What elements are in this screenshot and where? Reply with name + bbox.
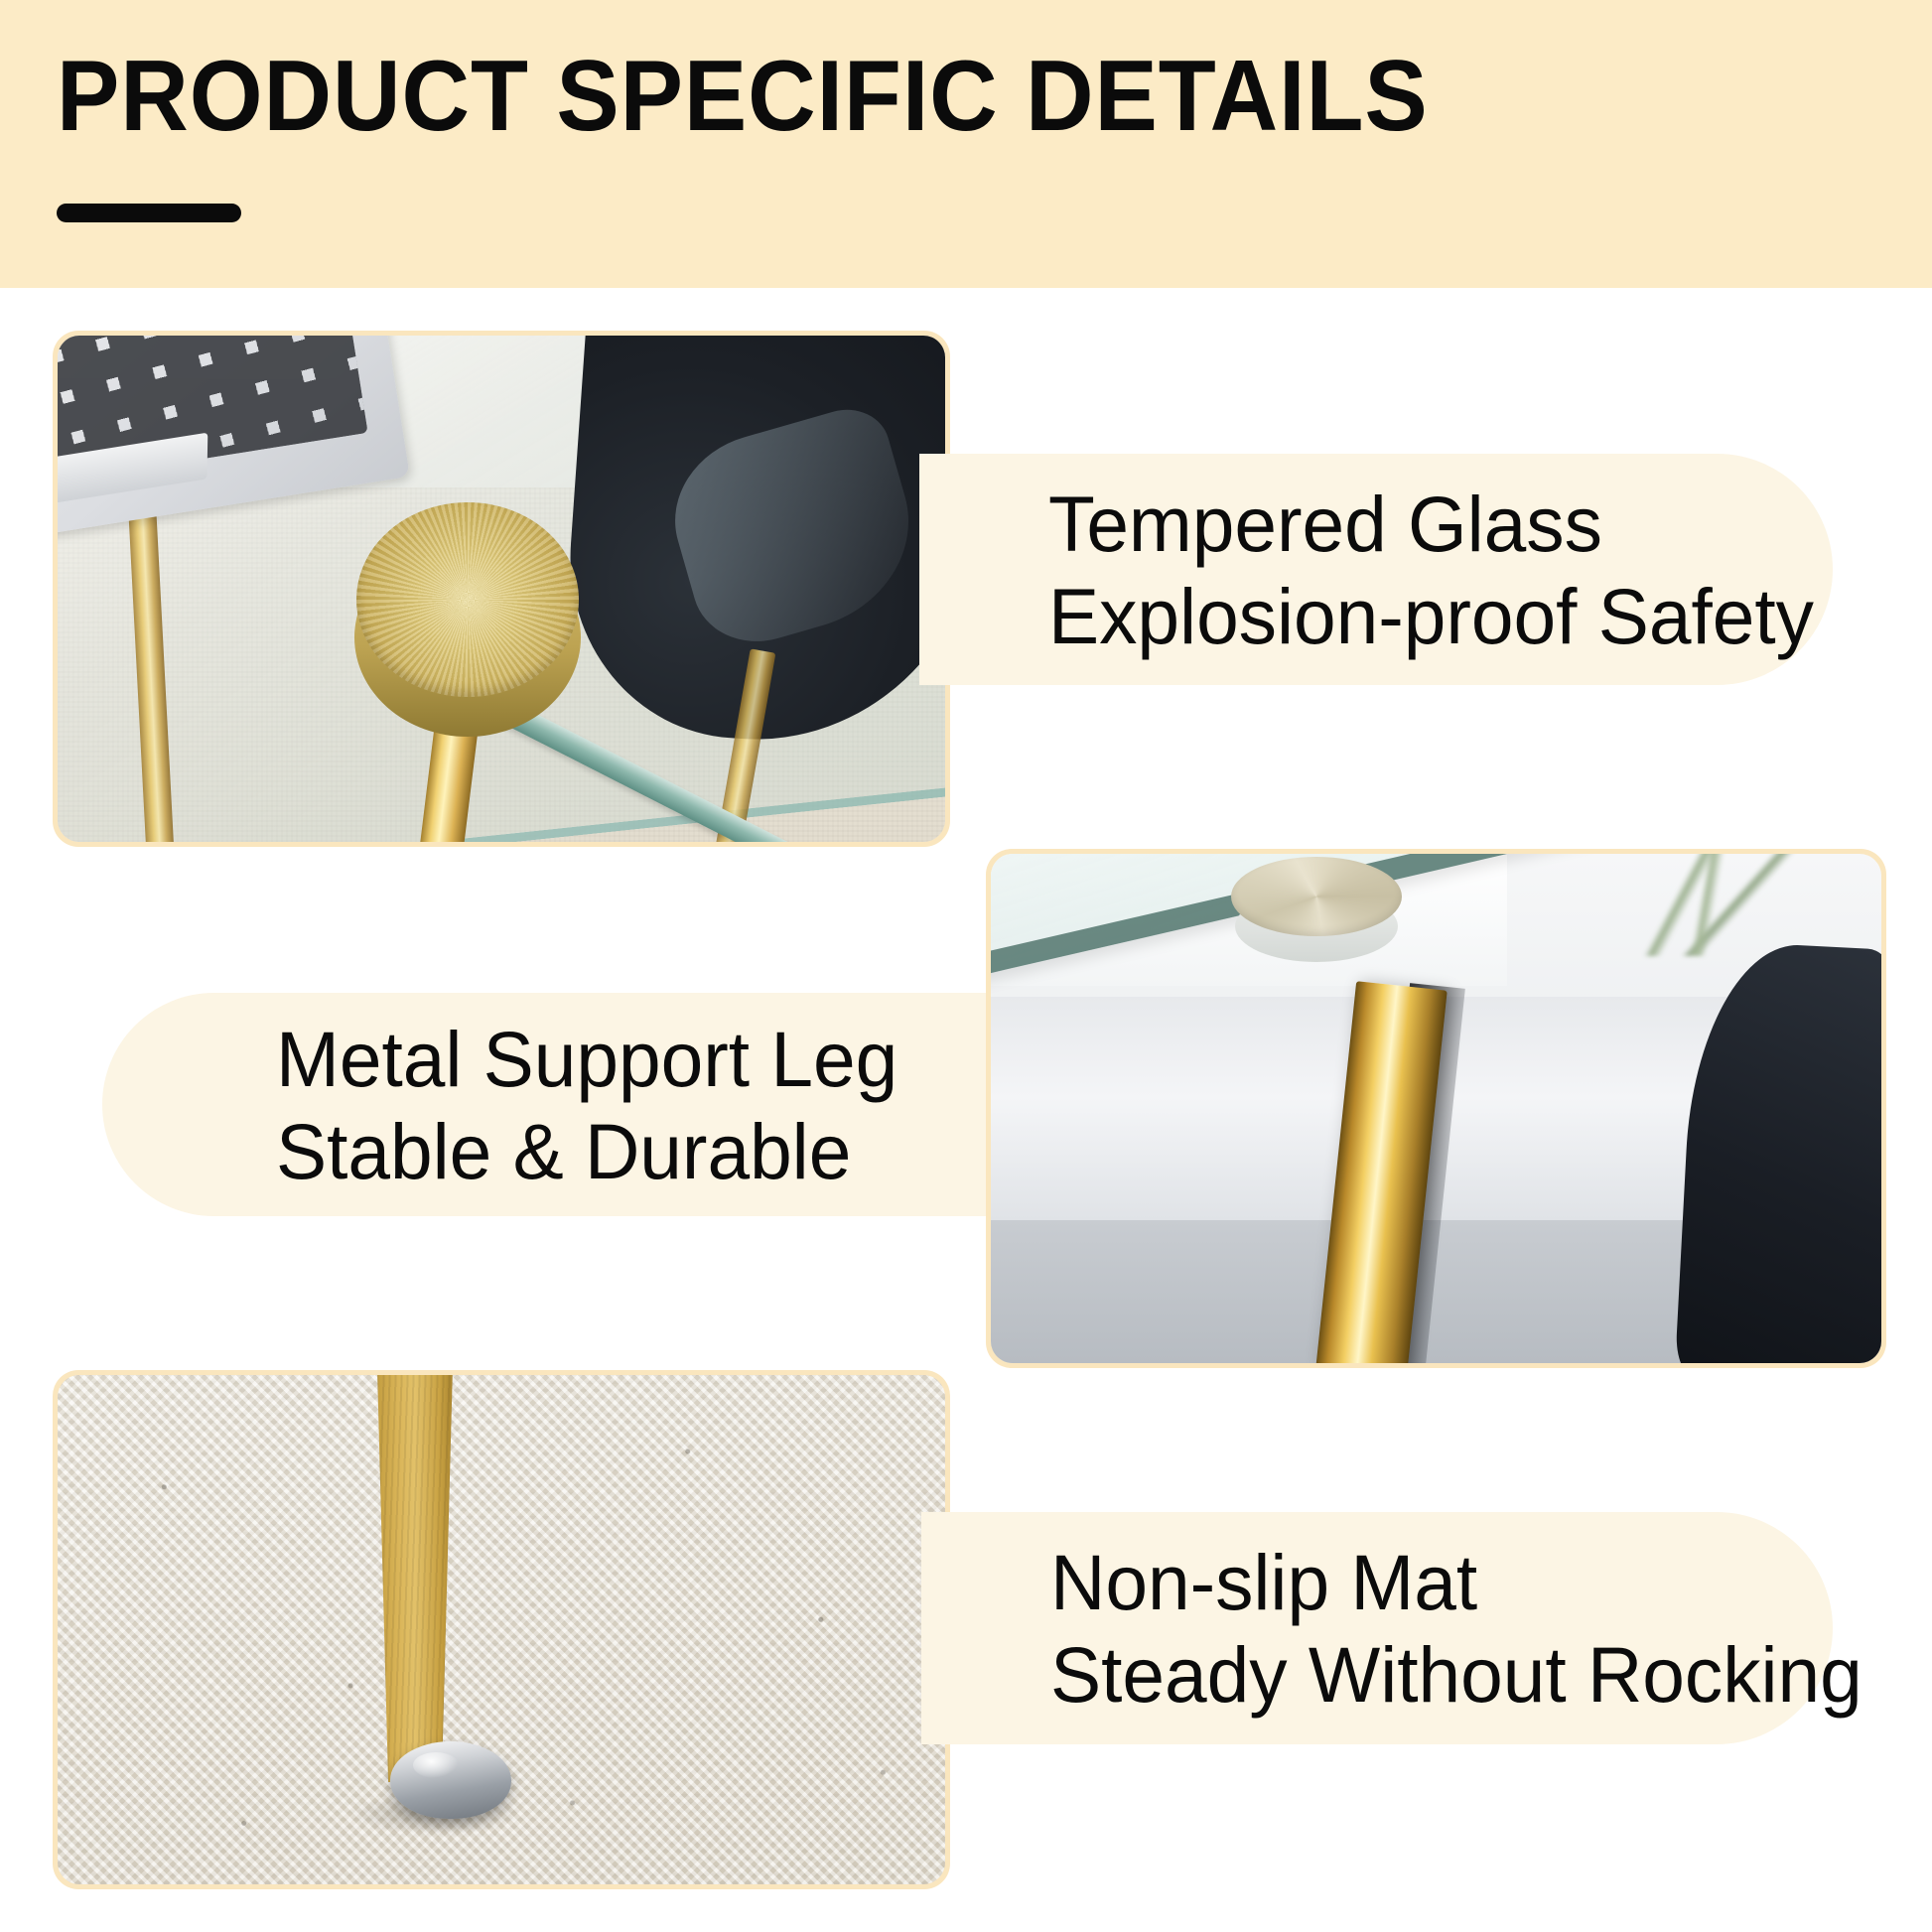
photo2-metal-cap-top [1231, 857, 1402, 936]
product-details-infographic: PRODUCT SPECIFIC DETAILS Tempered Glass … [0, 0, 1932, 1932]
title-underline-rule [57, 204, 241, 222]
feature-photo-card-non-slip-mat [53, 1370, 950, 1889]
photo3-chrome-foot-glide [390, 1741, 511, 1819]
photo-tempered-glass [58, 336, 945, 842]
feature-label-metal-support-leg: Metal Support Leg Stable & Durable [102, 993, 993, 1216]
feature-label-non-slip-mat: Non-slip Mat Steady Without Rocking [921, 1512, 1833, 1744]
feature-label-tempered-glass: Tempered Glass Explosion-proof Safety [919, 454, 1833, 685]
photo-non-slip-mat [58, 1375, 945, 1884]
photo1-brass-cap [354, 502, 581, 729]
feature-label-line-1: Non-slip Mat [1050, 1536, 1809, 1628]
photo-metal-support-leg [991, 854, 1881, 1363]
feature-label-line-1: Tempered Glass [1048, 478, 1809, 570]
feature-label-line-1: Metal Support Leg [276, 1013, 971, 1105]
photo1-brass-cap-top [356, 502, 579, 697]
feature-photo-card-metal-support-leg [986, 849, 1886, 1368]
photo2-plant-leaves [1543, 854, 1846, 956]
photo2-metal-cap [1231, 857, 1402, 974]
feature-photo-card-tempered-glass [53, 331, 950, 847]
feature-label-line-2: Stable & Durable [276, 1105, 971, 1197]
feature-label-line-2: Steady Without Rocking [1050, 1628, 1809, 1721]
feature-label-line-2: Explosion-proof Safety [1048, 570, 1809, 662]
photo3-chrome-foot-highlight [413, 1752, 459, 1778]
page-title: PRODUCT SPECIFIC DETAILS [57, 44, 1429, 149]
